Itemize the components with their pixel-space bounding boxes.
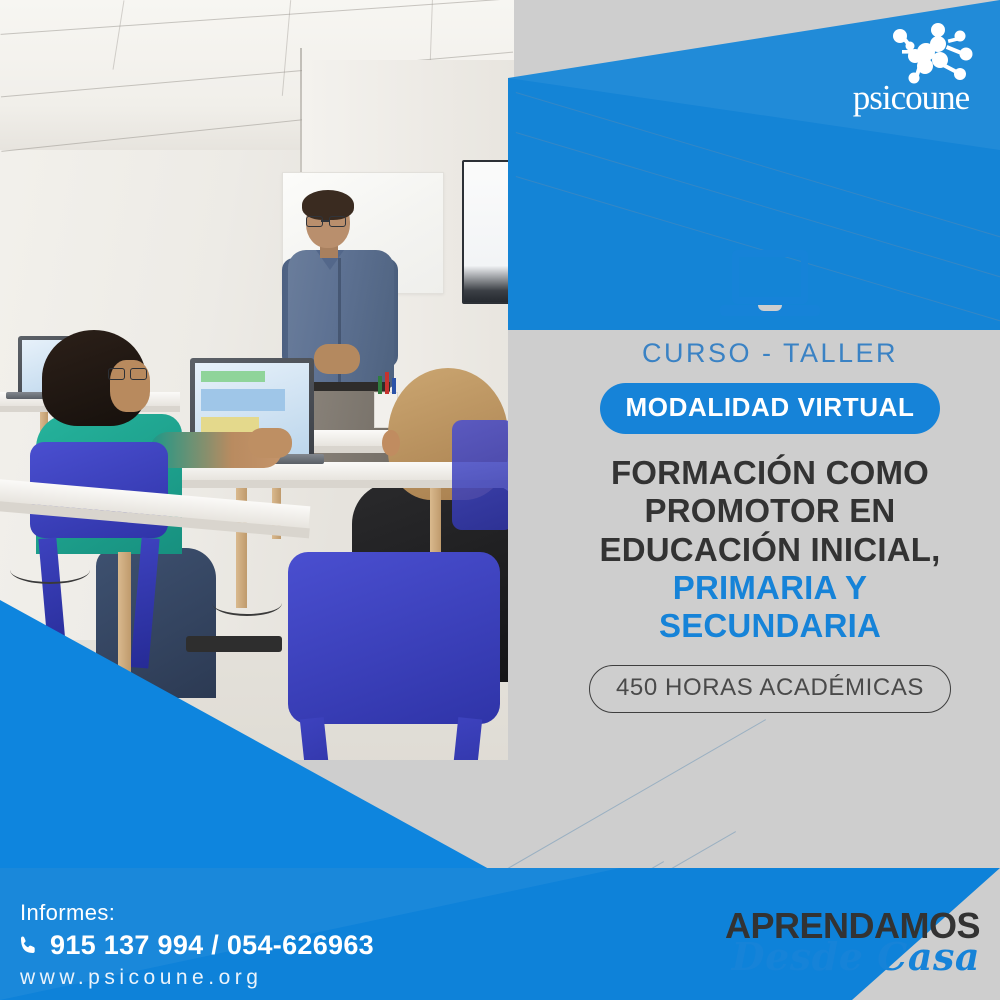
cable xyxy=(10,556,90,584)
slogan-bottom: Desde Casa xyxy=(725,938,980,976)
molecule-network-icon xyxy=(880,22,976,84)
modality-badge: MODALIDAD VIRTUAL xyxy=(600,383,941,434)
student-ear xyxy=(382,430,400,456)
page-title: FORMACIÓN COMO PROMOTOR EN EDUCACIÓN INI… xyxy=(560,454,980,645)
headline-line-1: FORMACIÓN COMO xyxy=(560,454,980,492)
student-hand xyxy=(248,428,292,458)
hours-badge-wrap: 450 HORAS ACADÉMICAS xyxy=(560,645,980,713)
teacher-glasses xyxy=(306,216,346,225)
brand-name: psicoune xyxy=(836,80,986,115)
pen xyxy=(385,372,389,394)
brand-logo[interactable]: psicoune xyxy=(836,22,986,114)
contact-label: Informes: xyxy=(20,900,115,926)
pen xyxy=(392,378,396,394)
cable xyxy=(212,590,282,616)
headline-line-5: SECUNDARIA xyxy=(560,607,980,645)
student-glasses xyxy=(108,368,146,378)
website-url[interactable]: www.psicoune.org xyxy=(20,966,262,990)
headline-line-4: PRIMARIA Y xyxy=(560,569,980,607)
screen-content xyxy=(201,389,285,411)
pen xyxy=(378,376,382,394)
phone-row[interactable]: 915 137 994 / 054-626963 xyxy=(16,930,374,961)
headline-line-2: PROMOTOR EN xyxy=(560,492,980,530)
phone-numbers: 915 137 994 / 054-626963 xyxy=(50,930,374,961)
power-strip xyxy=(186,636,282,652)
slogan: APRENDAMOS Desde Casa xyxy=(725,908,980,976)
offer-content: CURSO - TALLER MODALIDAD VIRTUAL FORMACI… xyxy=(560,250,980,713)
laptop-screen-outline xyxy=(732,250,808,304)
screen-content xyxy=(201,371,265,382)
laptop-icon xyxy=(720,250,820,322)
teacher-hands xyxy=(314,344,360,374)
headline-line-3: EDUCACIÓN INICIAL, xyxy=(560,531,980,569)
promo-poster: psicoune CURSO - TALLER MODALIDAD VIRTUA… xyxy=(0,0,1000,1000)
chair xyxy=(288,552,500,724)
wall-monitor xyxy=(462,160,514,304)
course-eyebrow: CURSO - TALLER xyxy=(560,338,980,369)
chair xyxy=(452,420,514,530)
modality-badge-wrap: MODALIDAD VIRTUAL xyxy=(560,383,980,434)
laptop-notch xyxy=(758,305,782,311)
phone-icon xyxy=(16,934,40,958)
hours-badge: 450 HORAS ACADÉMICAS xyxy=(589,665,951,713)
